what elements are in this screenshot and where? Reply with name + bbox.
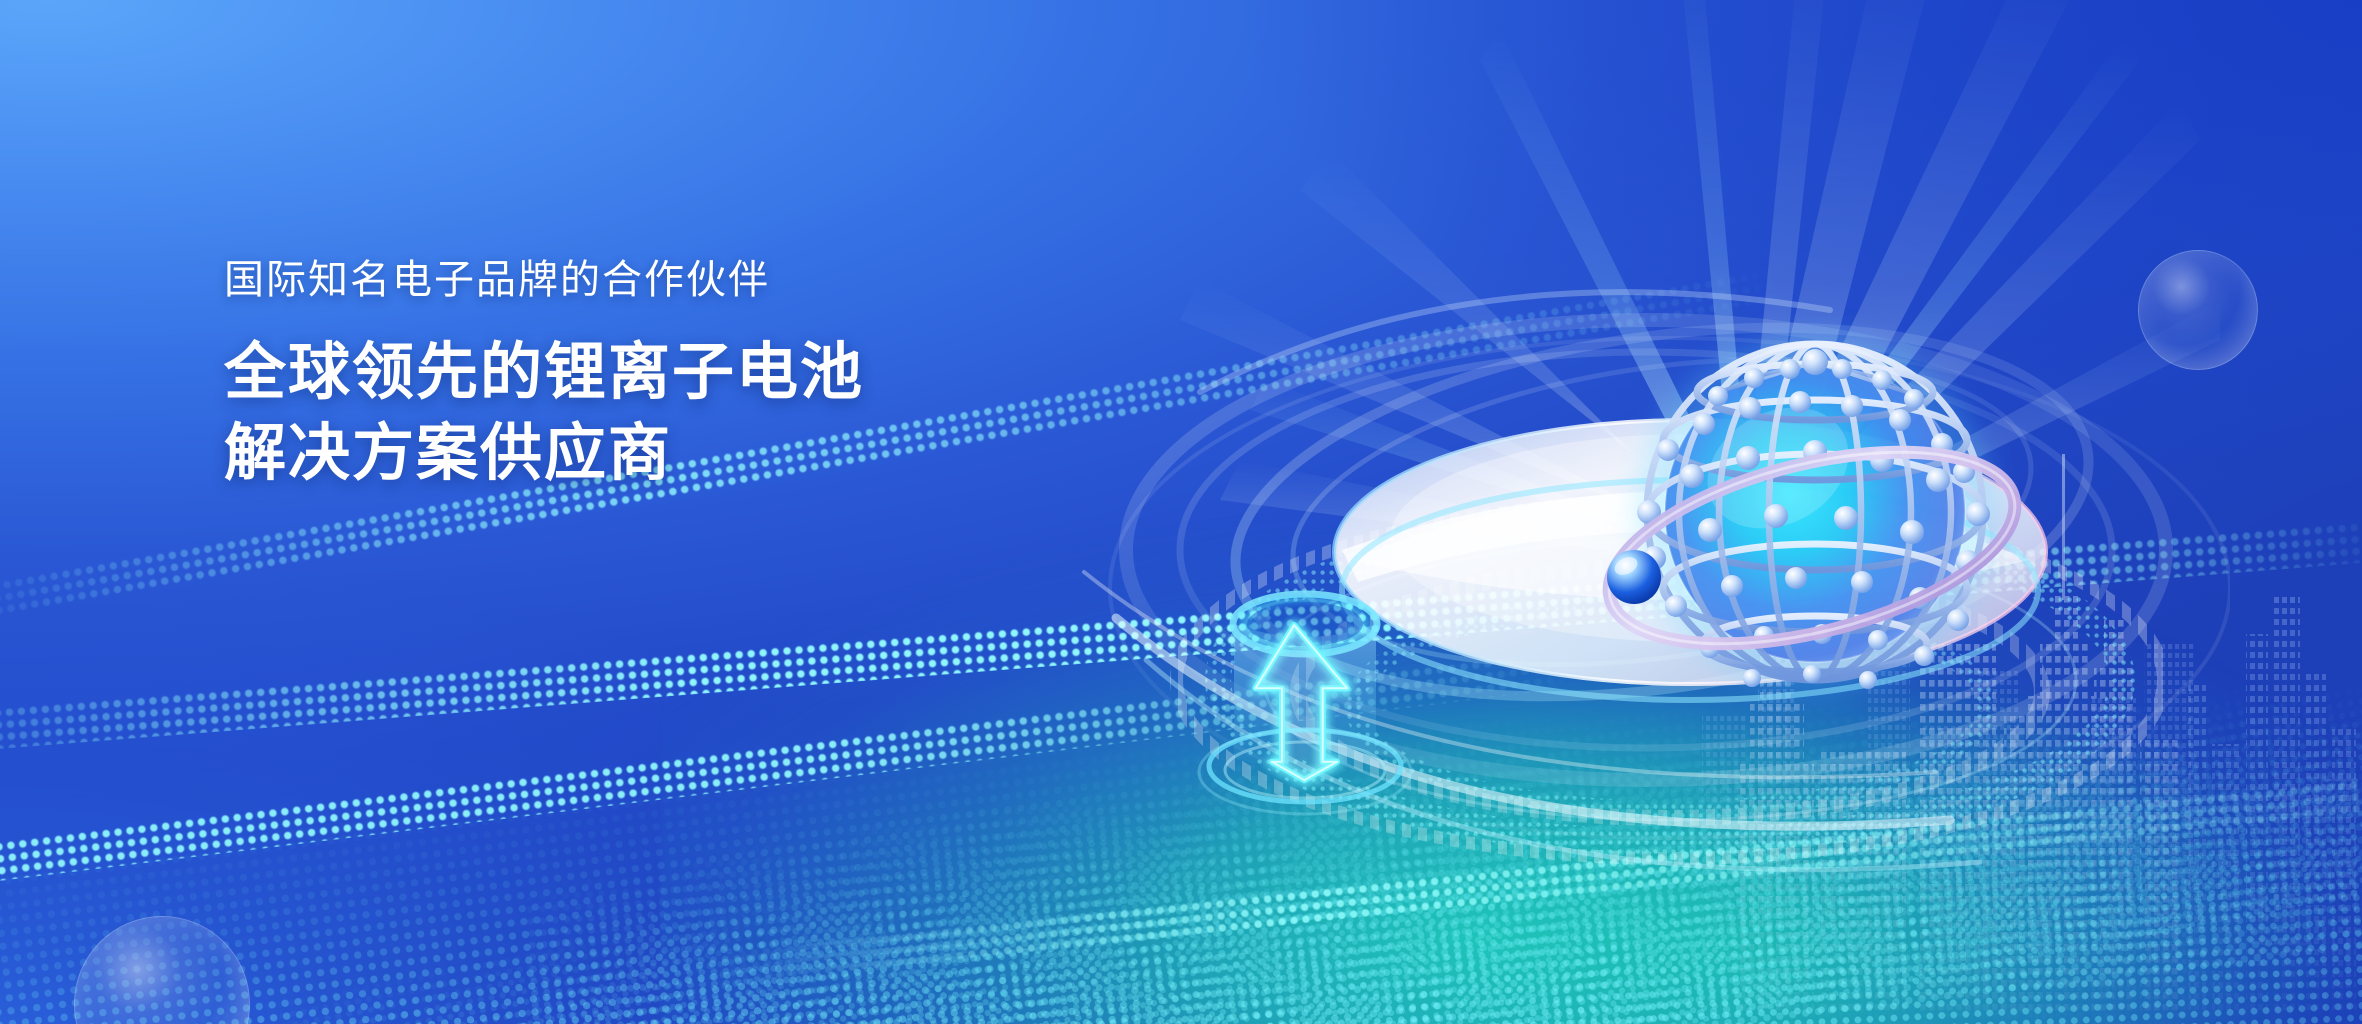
hero-eyebrow: 国际知名电子品牌的合作伙伴 <box>224 255 1124 305</box>
hero-headline-line-2: 解决方案供应商 <box>224 414 1124 495</box>
hero-copy: 国际知名电子品牌的合作伙伴 全球领先的锂离子电池 解决方案供应商 <box>224 255 1124 494</box>
wireframe-globe-icon <box>1600 300 2030 730</box>
hero-banner: 国际知名电子品牌的合作伙伴 全球领先的锂离子电池 解决方案供应商 <box>0 0 2362 1024</box>
hero-headline-line-1: 全球领先的锂离子电池 <box>224 333 1124 414</box>
portal-arrow-group <box>1190 580 1420 820</box>
